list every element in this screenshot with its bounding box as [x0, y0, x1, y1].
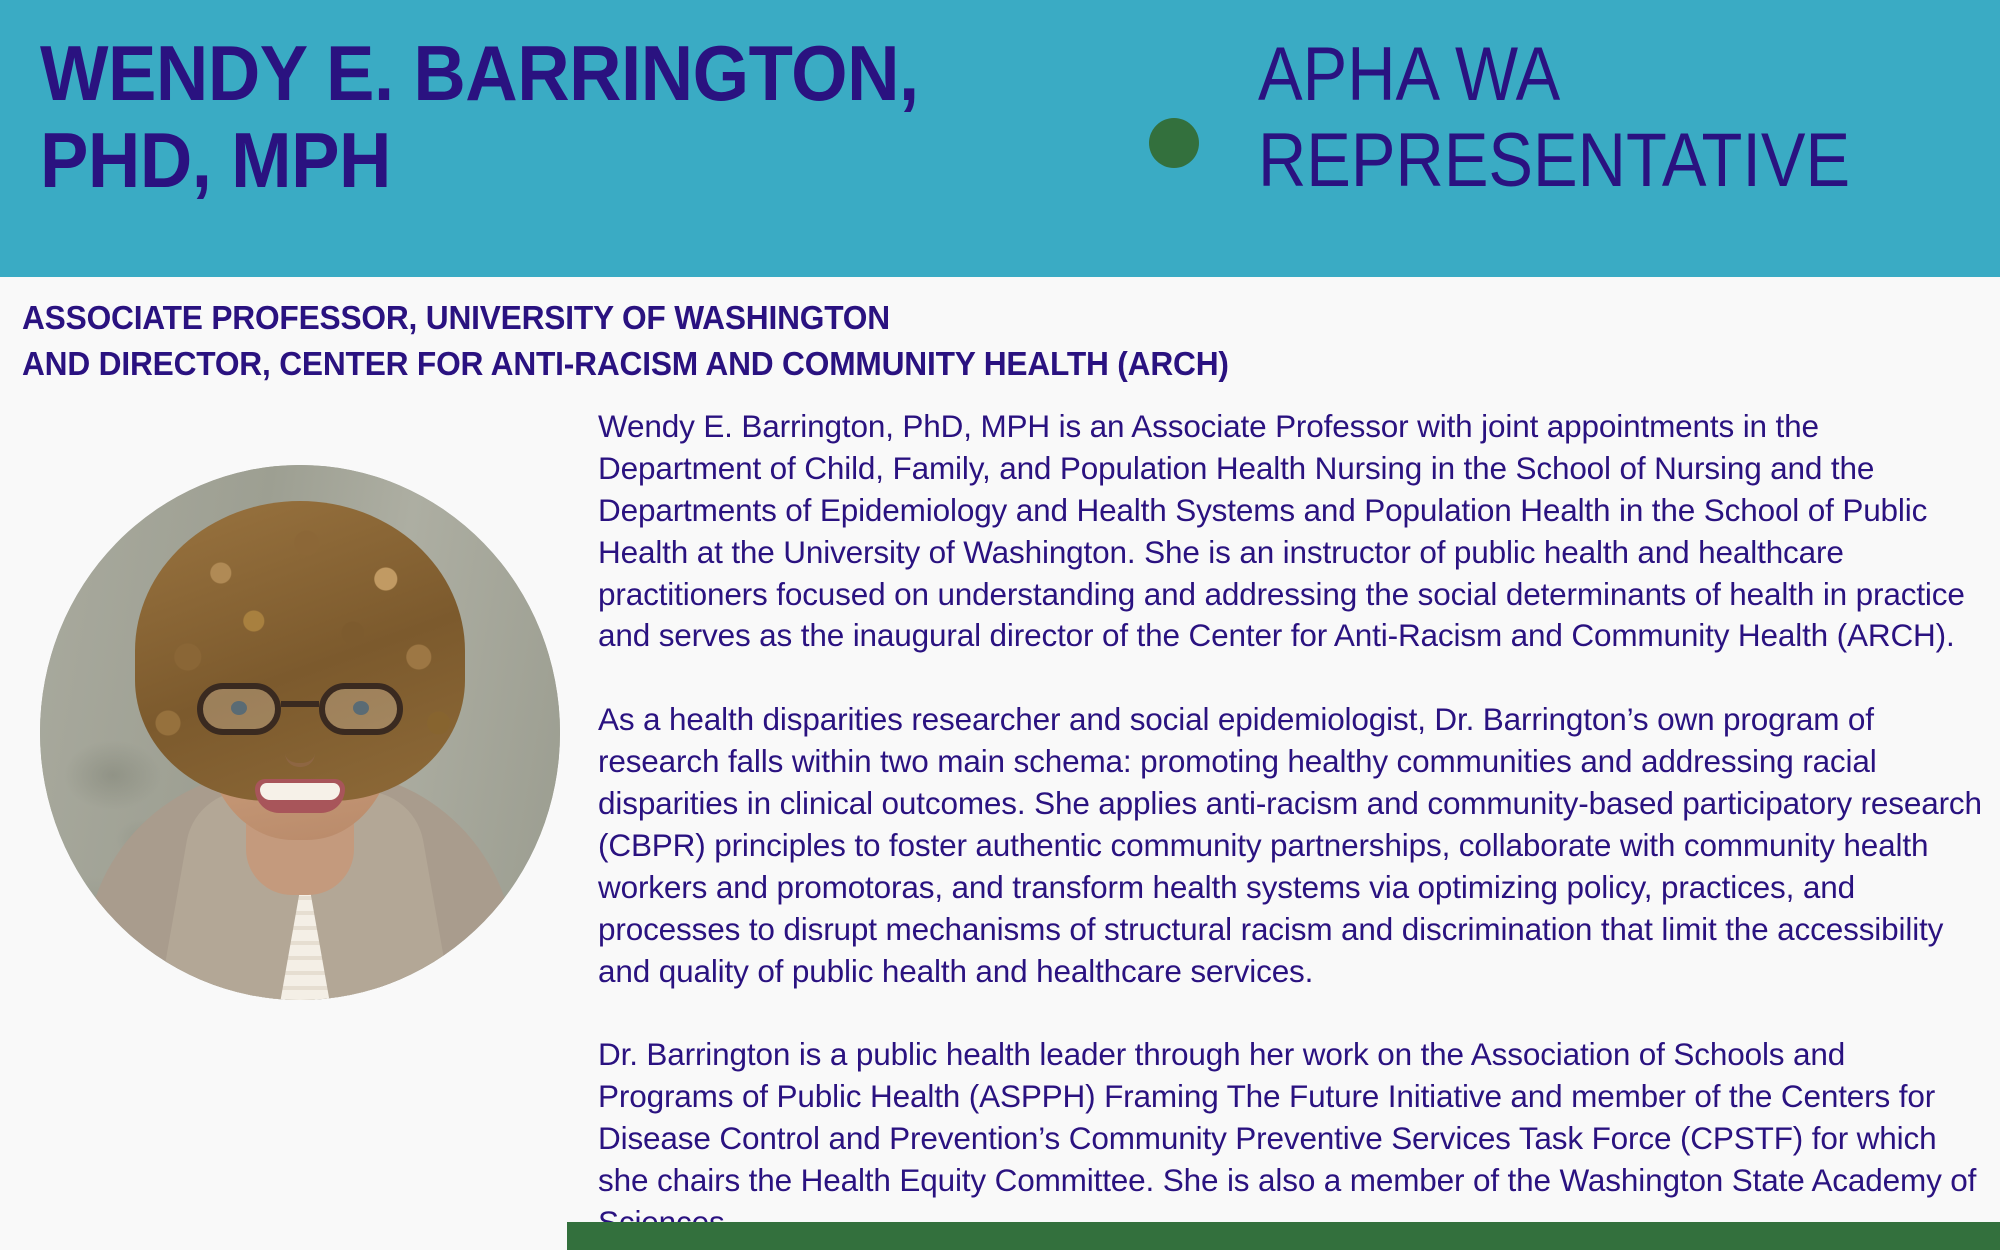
speaker-name: WENDY E. BARRINGTON, PHD, MPH: [40, 30, 1044, 205]
speaker-role: APHA WA REPRESENTATIVE: [1258, 32, 1850, 204]
green-dot-icon: [1149, 118, 1199, 168]
portrait-teeth: [260, 783, 340, 800]
speaker-name-line-1: WENDY E. BARRINGTON,: [40, 30, 1044, 117]
speaker-portrait-photo: [40, 465, 560, 1000]
bottom-accent-bar: [567, 1222, 2000, 1250]
bio-paragraph-2: As a health disparities researcher and s…: [598, 699, 1986, 992]
affiliation-line-1: ASSOCIATE PROFESSOR, UNIVERSITY OF WASHI…: [22, 295, 1654, 341]
speaker-name-line-2: PHD, MPH: [40, 117, 1044, 204]
affiliation-line-2: AND DIRECTOR, CENTER FOR ANTI-RACISM AND…: [22, 341, 1654, 387]
portrait-mouth: [255, 779, 345, 813]
portrait-eye-right: [353, 701, 369, 715]
speaker-role-line-2: REPRESENTATIVE: [1258, 118, 1850, 204]
bio-paragraph-3: Dr. Barrington is a public health leader…: [598, 1034, 1986, 1243]
speaker-role-line-1: APHA WA: [1258, 32, 1850, 118]
portrait-eye-left: [231, 701, 247, 715]
header-band: WENDY E. BARRINGTON, PHD, MPH APHA WA RE…: [0, 0, 2000, 277]
glasses-bridge: [281, 701, 319, 707]
eyeglasses-icon: [197, 683, 403, 735]
bio-paragraph-1: Wendy E. Barrington, PhD, MPH is an Asso…: [598, 406, 1986, 657]
portrait-container: [40, 465, 560, 1000]
affiliation-subtitle: ASSOCIATE PROFESSOR, UNIVERSITY OF WASHI…: [22, 295, 1654, 386]
biography-text: Wendy E. Barrington, PhD, MPH is an Asso…: [598, 406, 1986, 1244]
